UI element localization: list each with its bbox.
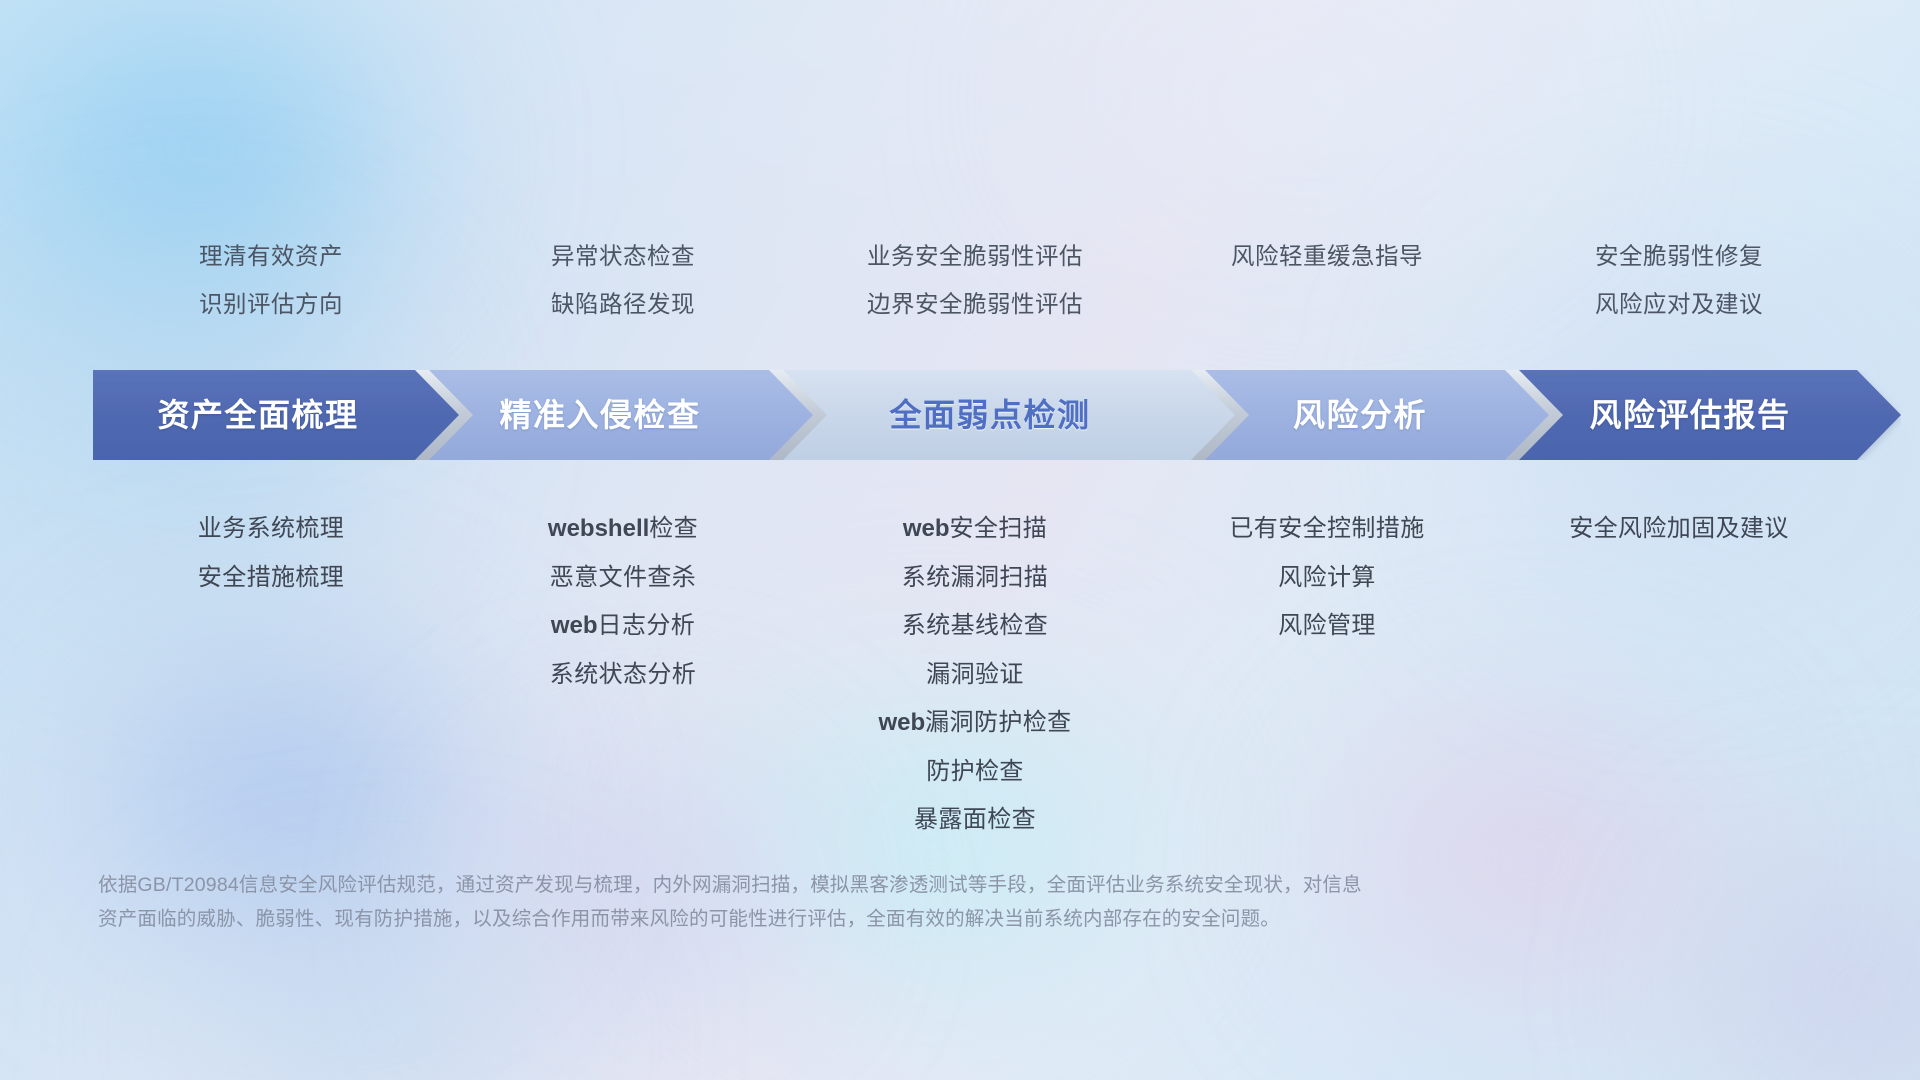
bottom-captions-stage-1: 业务系统梳理安全措施梳理	[95, 505, 447, 602]
chevron-stage-1[interactable]	[93, 370, 459, 460]
caption-cjk-run: 漏洞验证	[926, 661, 1024, 688]
top-captions-stage-4: 风险轻重缓急指导	[1151, 232, 1503, 328]
footer-line: 依据GB/T20984信息安全风险评估规范，通过资产发现与梳理，内外网漏洞扫描，…	[98, 868, 1728, 902]
bottom-caption-line: 暴露面检查	[799, 796, 1151, 845]
top-captions-stage-3: 业务安全脆弱性评估 边界安全脆弱性评估	[799, 232, 1151, 328]
bottom-captions-stage-2: webshell检查恶意文件查杀web日志分析系统状态分析	[447, 505, 799, 699]
top-caption-line: 缺陷路径发现	[447, 280, 799, 328]
top-caption-line: 异常状态检查	[447, 232, 799, 280]
caption-cjk-run: 风险计算	[1278, 564, 1376, 591]
chevron-stage-2[interactable]	[429, 370, 813, 460]
caption-cjk-run: 安全扫描	[950, 515, 1048, 542]
bottom-captions-stage-5: 安全风险加固及建议	[1503, 505, 1855, 554]
top-caption-line: 业务安全脆弱性评估	[799, 232, 1151, 280]
process-flow-diagram: 理清有效资产 识别评估方向 异常状态检查 缺陷路径发现 业务安全脆弱性评估 边界…	[0, 0, 1920, 1080]
bottom-caption-line: web安全扫描	[799, 505, 1151, 554]
bottom-caption-line: 系统漏洞扫描	[799, 554, 1151, 603]
top-caption-line: 理清有效资产	[95, 232, 447, 280]
chevron-stage-4[interactable]	[1205, 370, 1549, 460]
caption-cjk-run: 风险管理	[1278, 612, 1376, 639]
bottom-caption-line: 漏洞验证	[799, 651, 1151, 700]
caption-cjk-run: 暴露面检查	[914, 806, 1036, 833]
bottom-caption-line: 已有安全控制措施	[1151, 505, 1503, 554]
bottom-captions-stage-3: web安全扫描系统漏洞扫描系统基线检查漏洞验证web漏洞防护检查防护检查暴露面检…	[799, 505, 1151, 845]
top-caption-line: 风险轻重缓急指导	[1151, 232, 1503, 280]
footer-description: 依据GB/T20984信息安全风险评估规范，通过资产发现与梳理，内外网漏洞扫描，…	[98, 868, 1728, 936]
caption-cjk-run: 恶意文件查杀	[550, 564, 696, 591]
top-caption-line: 边界安全脆弱性评估	[799, 280, 1151, 328]
caption-cjk-run: 业务系统梳理	[198, 515, 344, 542]
bottom-caption-line: 安全风险加固及建议	[1503, 505, 1855, 554]
caption-cjk-run: 日志分析	[598, 612, 696, 639]
top-caption-line: 风险应对及建议	[1503, 280, 1855, 328]
caption-cjk-run: 安全措施梳理	[198, 564, 344, 591]
caption-latin-run: web	[551, 612, 598, 639]
bottom-caption-line: 恶意文件查杀	[447, 554, 799, 603]
top-captions-stage-2: 异常状态检查 缺陷路径发现	[447, 232, 799, 328]
bottom-caption-line: 风险计算	[1151, 554, 1503, 603]
bottom-caption-line: 安全措施梳理	[95, 554, 447, 603]
bottom-caption-line: web漏洞防护检查	[799, 699, 1151, 748]
bottom-caption-line: 风险管理	[1151, 602, 1503, 651]
bottom-caption-line: 系统基线检查	[799, 602, 1151, 651]
caption-cjk-run: 漏洞防护检查	[925, 709, 1071, 736]
bottom-caption-line: webshell检查	[447, 505, 799, 554]
bottom-caption-line: web日志分析	[447, 602, 799, 651]
top-captions-stage-1: 理清有效资产 识别评估方向	[95, 232, 447, 328]
caption-cjk-run: 系统漏洞扫描	[902, 564, 1048, 591]
bottom-caption-row: 业务系统梳理安全措施梳理 webshell检查恶意文件查杀web日志分析系统状态…	[95, 505, 1855, 845]
stage-chevron-band	[93, 370, 1901, 460]
top-caption-row: 理清有效资产 识别评估方向 异常状态检查 缺陷路径发现 业务安全脆弱性评估 边界…	[95, 232, 1855, 328]
top-captions-stage-5: 安全脆弱性修复 风险应对及建议	[1503, 232, 1855, 328]
caption-cjk-run: 系统状态分析	[550, 661, 696, 688]
caption-latin-run: webshell	[548, 515, 649, 542]
chevron-svg	[93, 370, 1901, 460]
caption-cjk-run: 防护检查	[926, 758, 1024, 785]
caption-cjk-run: 已有安全控制措施	[1229, 515, 1424, 542]
caption-cjk-run: 安全风险加固及建议	[1569, 515, 1789, 542]
caption-latin-run: web	[878, 709, 925, 736]
footer-line: 资产面临的威胁、脆弱性、现有防护措施，以及综合作用而带来风险的可能性进行评估，全…	[98, 902, 1728, 936]
top-caption-line: 安全脆弱性修复	[1503, 232, 1855, 280]
bottom-caption-line: 系统状态分析	[447, 651, 799, 700]
bottom-caption-line: 业务系统梳理	[95, 505, 447, 554]
caption-latin-run: web	[903, 515, 950, 542]
top-caption-line: 识别评估方向	[95, 280, 447, 328]
chevron-stage-5[interactable]	[1519, 370, 1901, 460]
bottom-caption-line: 防护检查	[799, 748, 1151, 797]
caption-cjk-run: 检查	[649, 515, 698, 542]
caption-cjk-run: 系统基线检查	[902, 612, 1048, 639]
chevron-stage-3[interactable]	[783, 370, 1235, 460]
bottom-captions-stage-4: 已有安全控制措施风险计算风险管理	[1151, 505, 1503, 651]
